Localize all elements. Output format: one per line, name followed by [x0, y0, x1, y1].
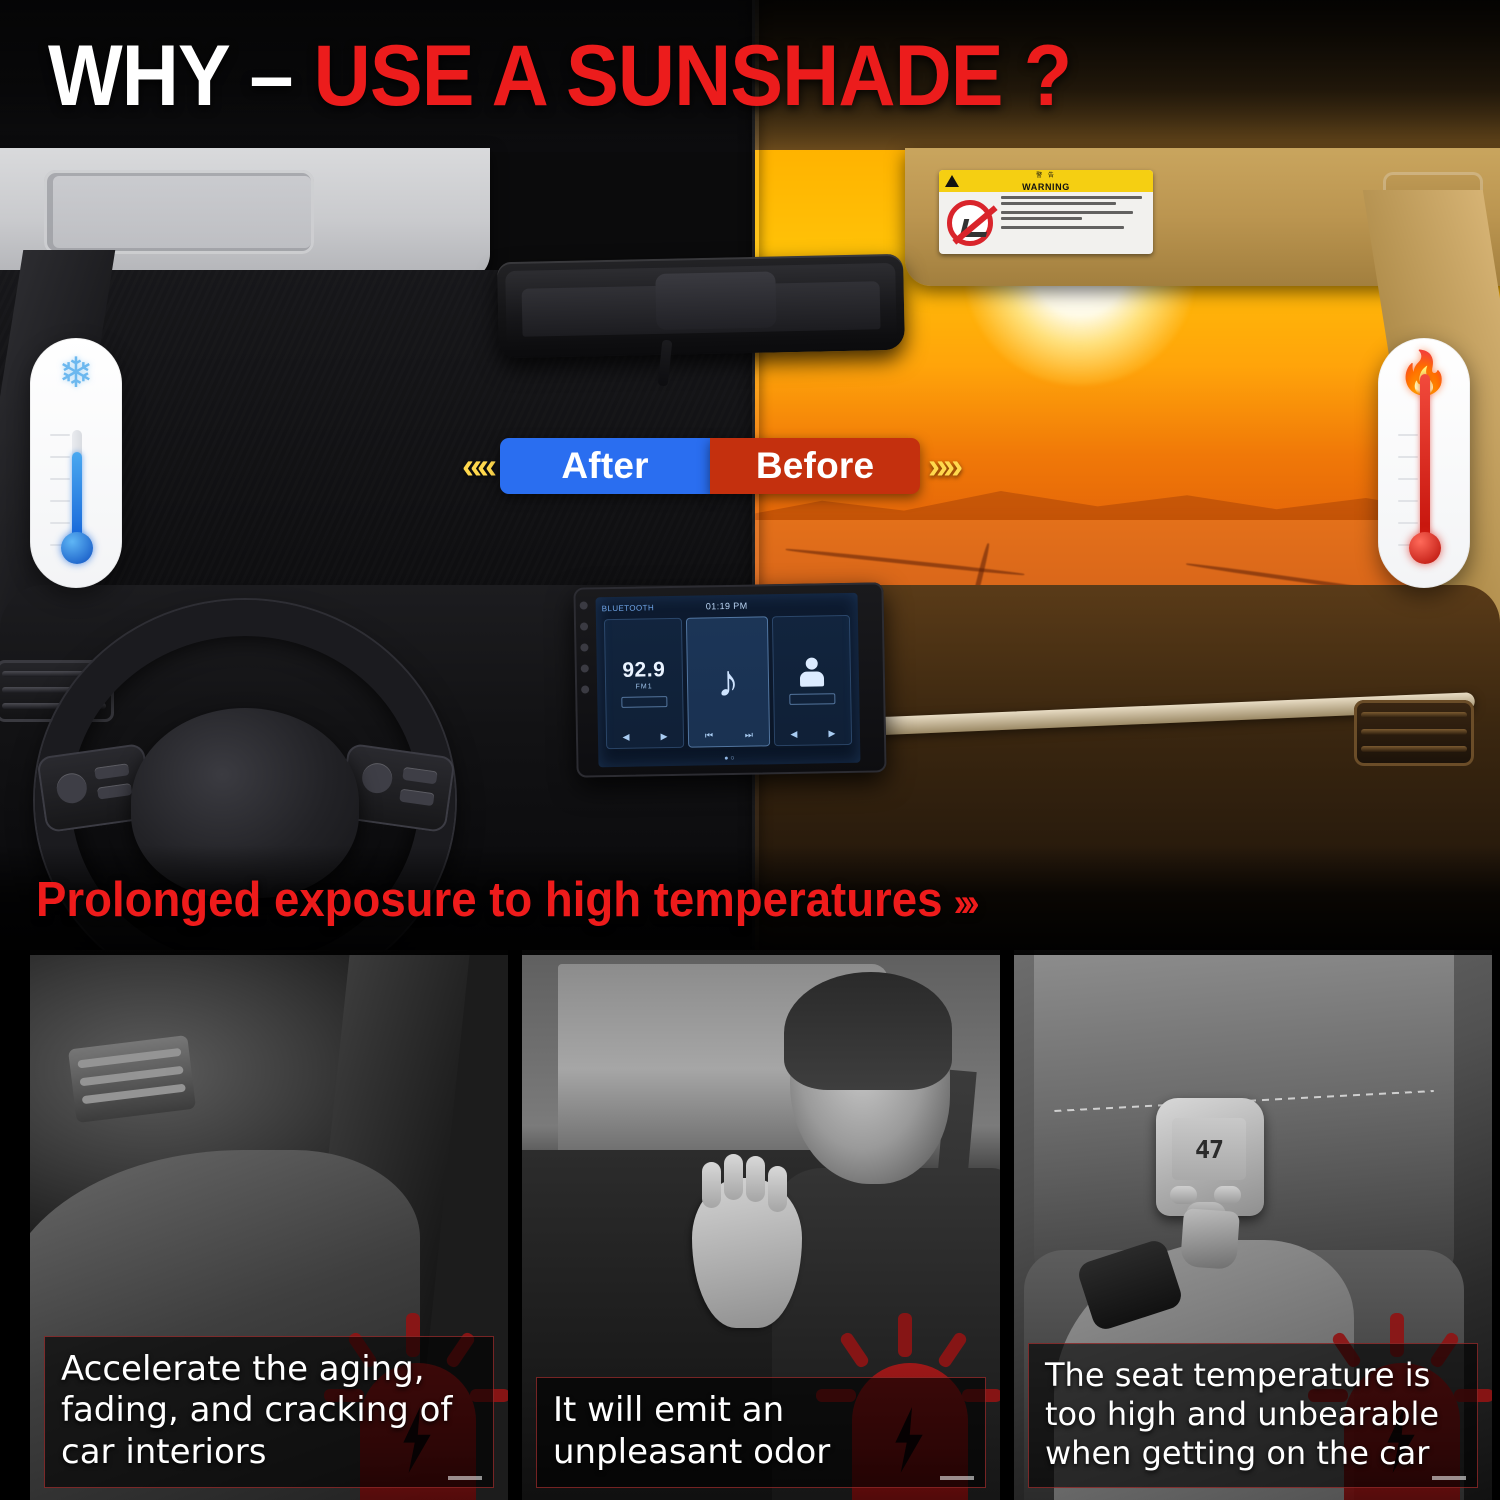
photo1-dash-vent: [68, 1035, 196, 1123]
panel-seat-temperature: 47 The seat temperature is too high and …: [1014, 950, 1492, 1500]
infotainment-head-unit[interactable]: BLUETOOTH 01:19 PM 92.9 FM1 ◀ ▶ ♪: [573, 582, 886, 777]
media-prev-icon[interactable]: ⏮: [705, 730, 713, 741]
profile-tile[interactable]: ◀ ▶: [772, 615, 852, 746]
ir-thermometer-reading: 47: [1195, 1135, 1223, 1164]
consequence-panels: Accelerate the aging, fading, and cracki…: [0, 950, 1500, 1500]
infotainment-status-bar: BLUETOOTH 01:19 PM: [596, 597, 858, 616]
radio-next-icon[interactable]: ▶: [660, 731, 667, 742]
chevron-right-icon: »»: [928, 448, 958, 484]
before-after-toggle[interactable]: «« After Before »»: [462, 435, 982, 497]
clock-label: 01:19 PM: [706, 601, 748, 612]
warning-label-text-lines: [1001, 192, 1153, 254]
subtitle: Prolonged exposure to high temperatures›…: [36, 876, 974, 925]
music-note-icon: ♪: [717, 660, 740, 704]
warning-label-cjk: 警 告: [939, 170, 1153, 179]
photo2-raised-hand: [692, 1178, 802, 1328]
radio-band: FM1: [636, 683, 653, 690]
before-badge[interactable]: Before: [710, 438, 920, 494]
steering-button-left-a: [94, 763, 129, 780]
steering-button-right-b: [399, 789, 434, 807]
steering-button-right-dial: [360, 761, 394, 795]
panel-unpleasant-odor: It will emit an unpleasant odor: [522, 950, 1000, 1500]
caption-underscore-3: [1432, 1476, 1466, 1480]
thermometer-bulb-hot: [1409, 532, 1441, 564]
cold-thermometer: ❄: [30, 338, 122, 588]
subtitle-arrows-icon: ›››: [954, 881, 974, 925]
infographic-canvas: 警 告 WARNING: [0, 0, 1500, 1500]
profile-next-icon[interactable]: ▶: [828, 728, 835, 739]
page-title-red: USE A SUNSHADE ?: [314, 28, 1072, 124]
caption-underscore-2: [940, 1476, 974, 1480]
photo2-hair: [784, 972, 952, 1090]
air-vent-right: [1354, 700, 1474, 766]
infrared-thermometer-gun: 47: [1152, 1098, 1270, 1263]
reflected-headrest: [655, 271, 776, 330]
page-title-white: WHY –: [48, 28, 293, 124]
head-unit-side-buttons[interactable]: [580, 601, 590, 693]
warning-label-header: 警 告 WARNING: [939, 170, 1153, 192]
media-next-icon[interactable]: ⏭: [745, 730, 753, 741]
caption-underscore-1: [448, 1476, 482, 1480]
visor-warning-label: 警 告 WARNING: [939, 170, 1153, 254]
panel-caption-1: Accelerate the aging, fading, and cracki…: [44, 1336, 494, 1488]
profile-controls[interactable]: ◀ ▶: [775, 728, 851, 740]
page-title: WHY – USE A SUNSHADE ?: [48, 33, 1071, 119]
warning-label-heading: WARNING: [939, 182, 1153, 192]
media-controls[interactable]: ⏮ ⏭: [689, 729, 769, 741]
panel-caption-3: The seat temperature is too high and unb…: [1028, 1343, 1478, 1488]
page-indicator: ● ○: [598, 753, 860, 765]
warning-label-body: [939, 192, 1153, 254]
rearview-mirror-glass: [505, 263, 897, 347]
panel-caption-2: It will emit an unpleasant odor: [536, 1377, 986, 1488]
subtitle-text: Prolonged exposure to high temperatures: [36, 873, 942, 927]
profile-prev-icon[interactable]: ◀: [790, 729, 797, 740]
radio-controls[interactable]: ◀ ▶: [607, 731, 683, 743]
media-tile[interactable]: ♪ ⏮ ⏭: [686, 616, 770, 747]
profile-pill: [789, 693, 835, 705]
thermometer-fill-hot: [1420, 374, 1430, 542]
radio-tile[interactable]: 92.9 FM1 ◀ ▶: [604, 618, 684, 749]
after-badge[interactable]: After: [500, 438, 710, 494]
hot-thermometer: 🔥: [1378, 338, 1470, 588]
thermometer-fill-cold: [72, 452, 82, 542]
steering-button-right-a: [402, 767, 437, 785]
ir-thermometer-display: 47: [1172, 1118, 1246, 1180]
rearview-mirror: [497, 254, 905, 358]
steering-button-left-b: [97, 783, 132, 800]
thermometer-bulb-cold: [61, 532, 93, 564]
infotainment-tiles: 92.9 FM1 ◀ ▶ ♪ ⏮ ⏭: [604, 615, 852, 749]
person-icon: [799, 657, 826, 687]
radio-prev-icon[interactable]: ◀: [622, 732, 629, 743]
snowflake-icon: ❄: [30, 352, 122, 394]
chevron-left-icon: ««: [462, 448, 492, 484]
radio-preset-pill: [621, 696, 667, 708]
steering-button-left-dpad: [55, 771, 89, 805]
radio-frequency: 92.9: [622, 659, 665, 681]
no-child-seat-icon: [939, 192, 1001, 254]
bluetooth-label: BLUETOOTH: [602, 603, 655, 613]
panel-interior-aging: Accelerate the aging, fading, and cracki…: [30, 950, 508, 1500]
infotainment-screen[interactable]: BLUETOOTH 01:19 PM 92.9 FM1 ◀ ▶ ♪: [596, 593, 861, 768]
